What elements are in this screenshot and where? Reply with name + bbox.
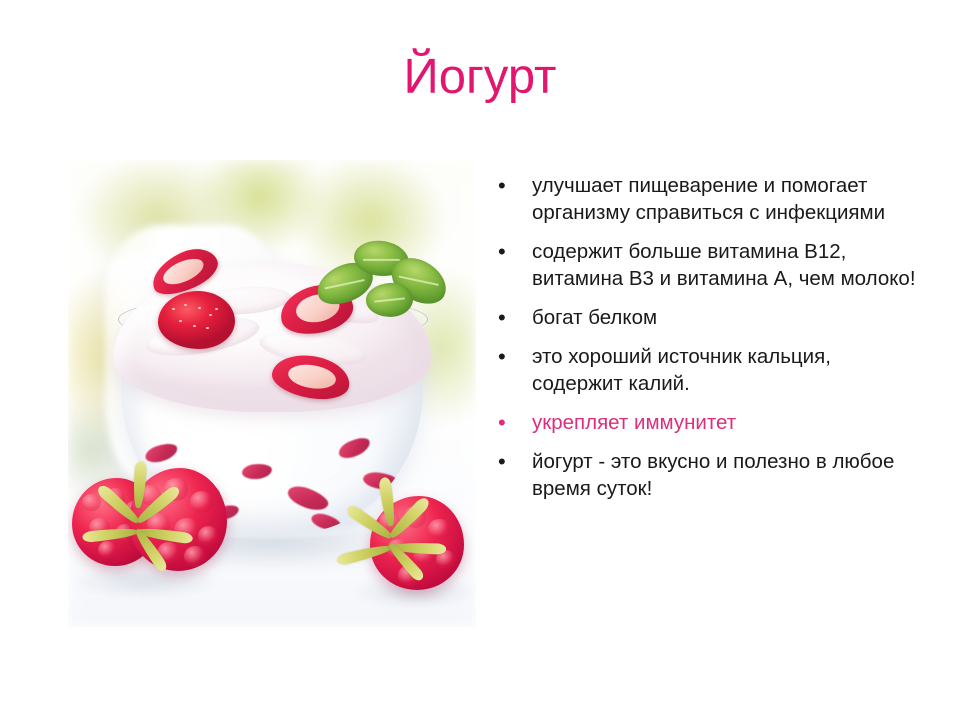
yogurt-photo bbox=[68, 160, 476, 627]
photo-canvas bbox=[68, 160, 476, 627]
list-item-label: укрепляет иммунитет bbox=[532, 409, 918, 436]
list-item-label: это хороший источник кальция, содержит к… bbox=[532, 343, 918, 397]
bullet-dot-icon: • bbox=[498, 409, 532, 436]
list-item-label: йогурт - это вкусно и полезно в любое вр… bbox=[532, 448, 918, 502]
bullet-list: •улучшает пищеварение и помогает организ… bbox=[498, 172, 918, 514]
bullet-dot-icon: • bbox=[498, 172, 532, 199]
raspberry-calyx-icon bbox=[97, 473, 179, 557]
mint-sprig-icon bbox=[313, 239, 452, 323]
raspberry-shadow bbox=[72, 562, 219, 599]
list-item-label: содержит больше витамина В12, витамина В… bbox=[532, 238, 918, 292]
bullet-dot-icon: • bbox=[498, 448, 532, 475]
raspberry-calyx-icon bbox=[350, 487, 432, 571]
bullet-dot-icon: • bbox=[498, 238, 532, 265]
list-item: •укрепляет иммунитет bbox=[498, 409, 918, 436]
list-item: •содержит больше витамина В12, витамина … bbox=[498, 238, 918, 292]
page-title: Йогурт bbox=[0, 52, 960, 103]
list-item: •улучшает пищеварение и помогает организ… bbox=[498, 172, 918, 226]
berry-on-yogurt-icon bbox=[158, 291, 236, 349]
list-item: •йогурт - это вкусно и полезно в любое в… bbox=[498, 448, 918, 502]
list-item: •это хороший источник кальция, содержит … bbox=[498, 343, 918, 397]
list-item: •богат белком bbox=[498, 304, 918, 331]
bullet-dot-icon: • bbox=[498, 343, 532, 370]
slide-root: Йогурт bbox=[0, 0, 960, 720]
bullet-dot-icon: • bbox=[498, 304, 532, 331]
list-item-label: улучшает пищеварение и помогает организм… bbox=[532, 172, 918, 226]
list-item-label: богат белком bbox=[532, 304, 918, 331]
